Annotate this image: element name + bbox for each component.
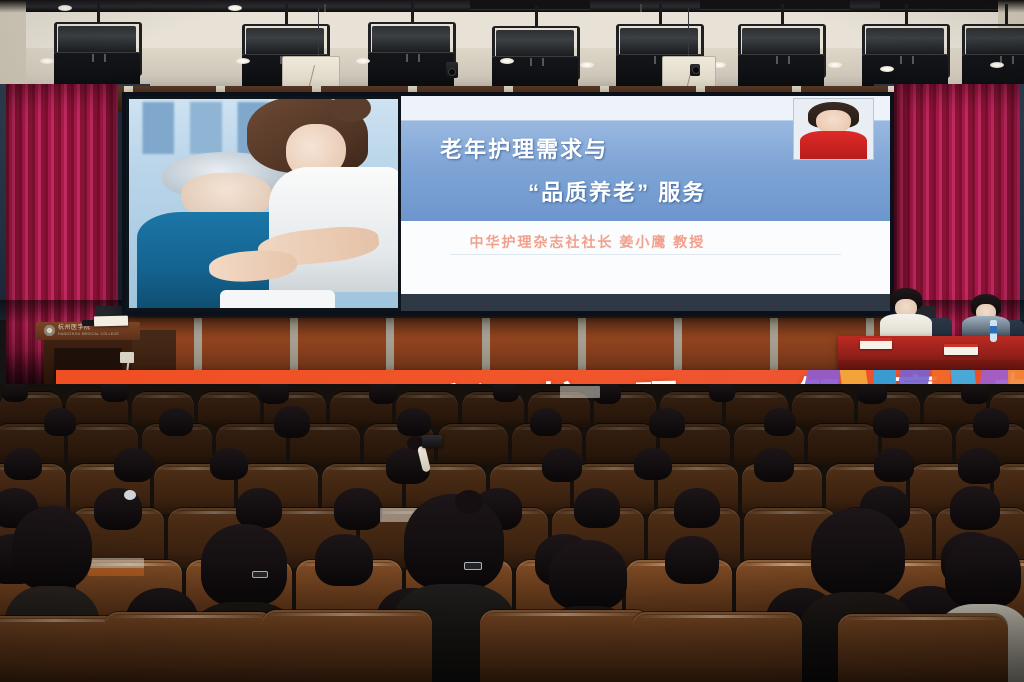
- light-housing: [966, 28, 1024, 56]
- seat-rail: [992, 395, 1024, 398]
- slide-title-line-2: “品质养老” 服务: [528, 175, 706, 207]
- auditorium-seat-foreground: [104, 612, 274, 682]
- institution-name-en: HANGZHOU MEDICAL COLLEGE: [58, 331, 119, 337]
- program-sheet: [560, 386, 600, 398]
- panel-divider: [578, 318, 586, 374]
- ceiling-camera: [690, 64, 700, 76]
- panel-divider: [770, 318, 778, 374]
- light-barndoor: [368, 52, 454, 90]
- attendee: [670, 486, 724, 528]
- slide-title-line-1: 老年护理需求与: [440, 132, 608, 164]
- stage-light: [736, 4, 828, 96]
- attendee: [854, 384, 890, 404]
- light-housing: [866, 28, 944, 56]
- smartphone: [422, 435, 442, 448]
- attendee-head: [397, 408, 431, 436]
- seat-rail: [639, 615, 795, 618]
- attendee: [958, 384, 992, 404]
- slide-divider-rule: [450, 254, 841, 255]
- attendee-head: [210, 448, 248, 480]
- light-stem: [905, 4, 908, 26]
- recessed-downlight: [236, 58, 250, 64]
- attendee-head: [44, 408, 76, 436]
- light-stem: [285, 4, 288, 26]
- attendee: [232, 486, 286, 528]
- stage-light: [52, 2, 144, 94]
- attendee-head: [159, 408, 193, 436]
- attendee: [750, 446, 798, 482]
- remote-speaker-red-top: [800, 131, 867, 160]
- light-housing: [496, 30, 574, 58]
- seat-rail: [589, 427, 653, 430]
- attendee: [40, 406, 80, 436]
- attendee: [526, 406, 566, 436]
- light-stem: [535, 6, 538, 28]
- attendee-head: [236, 488, 282, 528]
- attendee: [0, 384, 32, 402]
- light-housing: [58, 26, 136, 54]
- attendee-head: [873, 408, 909, 438]
- attendee-head: [950, 486, 1000, 530]
- attendee: [366, 384, 400, 404]
- auditorium-seat-foreground: [480, 610, 650, 682]
- attendee-head: [958, 448, 1000, 484]
- attendee-head: [12, 506, 92, 590]
- seat-rail: [441, 427, 505, 430]
- attendee-head: [530, 408, 562, 436]
- stage-light: [960, 4, 1024, 96]
- attendee: [870, 446, 918, 482]
- attendee-head: [259, 384, 289, 404]
- attendee-head: [754, 448, 794, 482]
- attendee: [0, 446, 46, 480]
- led-screen-frame: 老年护理需求与 “品质养老” 服务 中华护理杂志社社长 姜小鹰 教授: [122, 92, 894, 316]
- eyeglasses: [252, 571, 268, 578]
- university-crest-icon: [44, 325, 55, 336]
- attendee-head: [334, 488, 382, 530]
- attendee-head: [857, 384, 887, 404]
- slide-subtitle: 中华护理杂志社社长 姜小鹰 教授: [469, 232, 705, 252]
- light-housing: [372, 26, 450, 54]
- attendee-head: [709, 384, 735, 402]
- attendee-head: [665, 536, 719, 584]
- attendee-head: [945, 536, 1021, 608]
- seat-rail: [241, 467, 315, 470]
- light-stem: [411, 2, 414, 24]
- recessed-downlight: [580, 62, 594, 68]
- attendee: [870, 406, 912, 438]
- seat-rail: [398, 395, 455, 398]
- name-card: [944, 344, 978, 355]
- auditorium-photo: 老年护理需求与 “品质养老” 服务 中华护理杂志社社长 姜小鹰 教授 杭州医学院…: [0, 0, 1024, 682]
- light-stem: [659, 4, 662, 26]
- slide-subtitle-area: 中华护理杂志社社长 姜小鹰 教授: [401, 221, 890, 294]
- presentation-slide: 老年护理需求与 “品质养老” 服务 中华护理杂志社社长 姜小鹰 教授: [126, 96, 890, 311]
- attendee: [660, 534, 724, 584]
- panel-divider: [674, 318, 682, 374]
- panel-divider: [194, 318, 202, 374]
- head-table-person: [960, 294, 1012, 340]
- light-stem: [97, 2, 100, 24]
- auditorium-seat-foreground: [262, 610, 432, 682]
- recessed-downlight: [40, 58, 54, 64]
- speaker-hanger: [688, 8, 689, 60]
- attendee: [330, 486, 386, 530]
- stage-light: [490, 6, 582, 98]
- attendee-head: [973, 408, 1009, 438]
- seat-rail: [269, 613, 425, 616]
- attendee: [394, 406, 434, 436]
- recessed-downlight: [356, 58, 370, 64]
- speaker-hanger: [318, 8, 319, 60]
- attendee: [256, 384, 292, 404]
- attendee: [310, 532, 378, 586]
- auditorium-seat-foreground: [632, 612, 802, 682]
- recessed-downlight: [880, 66, 894, 72]
- attendee: [538, 446, 586, 482]
- attendee-photographing: [380, 440, 436, 484]
- recessed-downlight: [228, 5, 242, 11]
- stage-light: [860, 4, 952, 96]
- seat-rail: [811, 427, 875, 430]
- audience-seating: [0, 384, 1024, 682]
- attendee: [954, 446, 1004, 484]
- panel-divider: [482, 318, 490, 374]
- eyeglasses: [464, 562, 482, 570]
- attendee: [570, 486, 624, 528]
- light-housing: [620, 28, 698, 56]
- slide-bottom-bar: [401, 294, 890, 311]
- remote-speaker-video-inset: [794, 99, 873, 159]
- attendee-photographing: [270, 404, 314, 438]
- name-card: [860, 338, 892, 349]
- attendee-head: [114, 448, 154, 482]
- seat-rail: [71, 427, 135, 430]
- light-housing: [742, 28, 820, 56]
- lectern-papers: [94, 316, 128, 327]
- light-stem: [1005, 4, 1008, 26]
- attendee: [706, 384, 738, 402]
- seat-rail: [794, 395, 851, 398]
- seat-rail: [111, 615, 267, 618]
- attendee: [98, 384, 132, 402]
- panel-divider: [386, 318, 394, 374]
- stage-wood-panels: [104, 318, 930, 374]
- attendee-head: [811, 508, 905, 596]
- seat-rail: [487, 613, 643, 616]
- auditorium-seat-foreground: [838, 614, 1008, 682]
- attendee-head: [961, 384, 989, 404]
- attendee-head: [549, 540, 627, 610]
- lectern-institution-label: 杭州医学院 HANGZHOU MEDICAL COLLEGE: [58, 325, 119, 337]
- recessed-downlight: [500, 58, 514, 64]
- attendee-head: [542, 448, 582, 482]
- attendee: [630, 446, 676, 480]
- light-stem: [781, 4, 784, 26]
- attendee-head: [574, 488, 620, 528]
- light-housing: [246, 28, 324, 56]
- attendee-head: [674, 488, 720, 528]
- attendee-head: [493, 384, 519, 402]
- panel-divider: [290, 318, 298, 374]
- recessed-downlight: [58, 5, 72, 11]
- stage-light: [366, 2, 458, 94]
- attendee: [490, 384, 522, 402]
- seat-rail: [200, 395, 257, 398]
- attendee: [946, 484, 1004, 530]
- attendee: [110, 446, 158, 482]
- attendee: [760, 406, 800, 436]
- attendee: [970, 406, 1012, 438]
- seat-rail: [134, 395, 191, 398]
- attendee-head: [315, 534, 373, 586]
- attendee-head: [201, 524, 287, 606]
- attendee: [156, 406, 196, 436]
- attendee-hair-bun: [455, 490, 483, 514]
- hair-clip: [124, 490, 136, 500]
- ceiling-camera: [446, 62, 458, 78]
- attendee-head: [764, 408, 796, 436]
- attendee-head: [874, 448, 914, 482]
- attendee: [206, 446, 252, 480]
- slide-photo: [126, 96, 401, 311]
- recessed-downlight: [990, 62, 1004, 68]
- attendee-head: [404, 494, 504, 590]
- water-bottle: [990, 320, 997, 342]
- slide-photo-border: [126, 96, 401, 311]
- attendee-head: [369, 384, 397, 404]
- attendee-head: [4, 448, 42, 480]
- attendee-head: [634, 448, 672, 480]
- attendee-head: [101, 384, 129, 402]
- attendee: [646, 406, 688, 438]
- head-table-person: [878, 288, 934, 340]
- attendee-head: [274, 406, 310, 438]
- seat-rail: [845, 617, 1001, 620]
- attendee-head: [649, 408, 685, 438]
- recessed-downlight: [828, 62, 842, 68]
- ceiling-side-wall-left: [0, 0, 26, 92]
- attendee-head: [2, 384, 28, 402]
